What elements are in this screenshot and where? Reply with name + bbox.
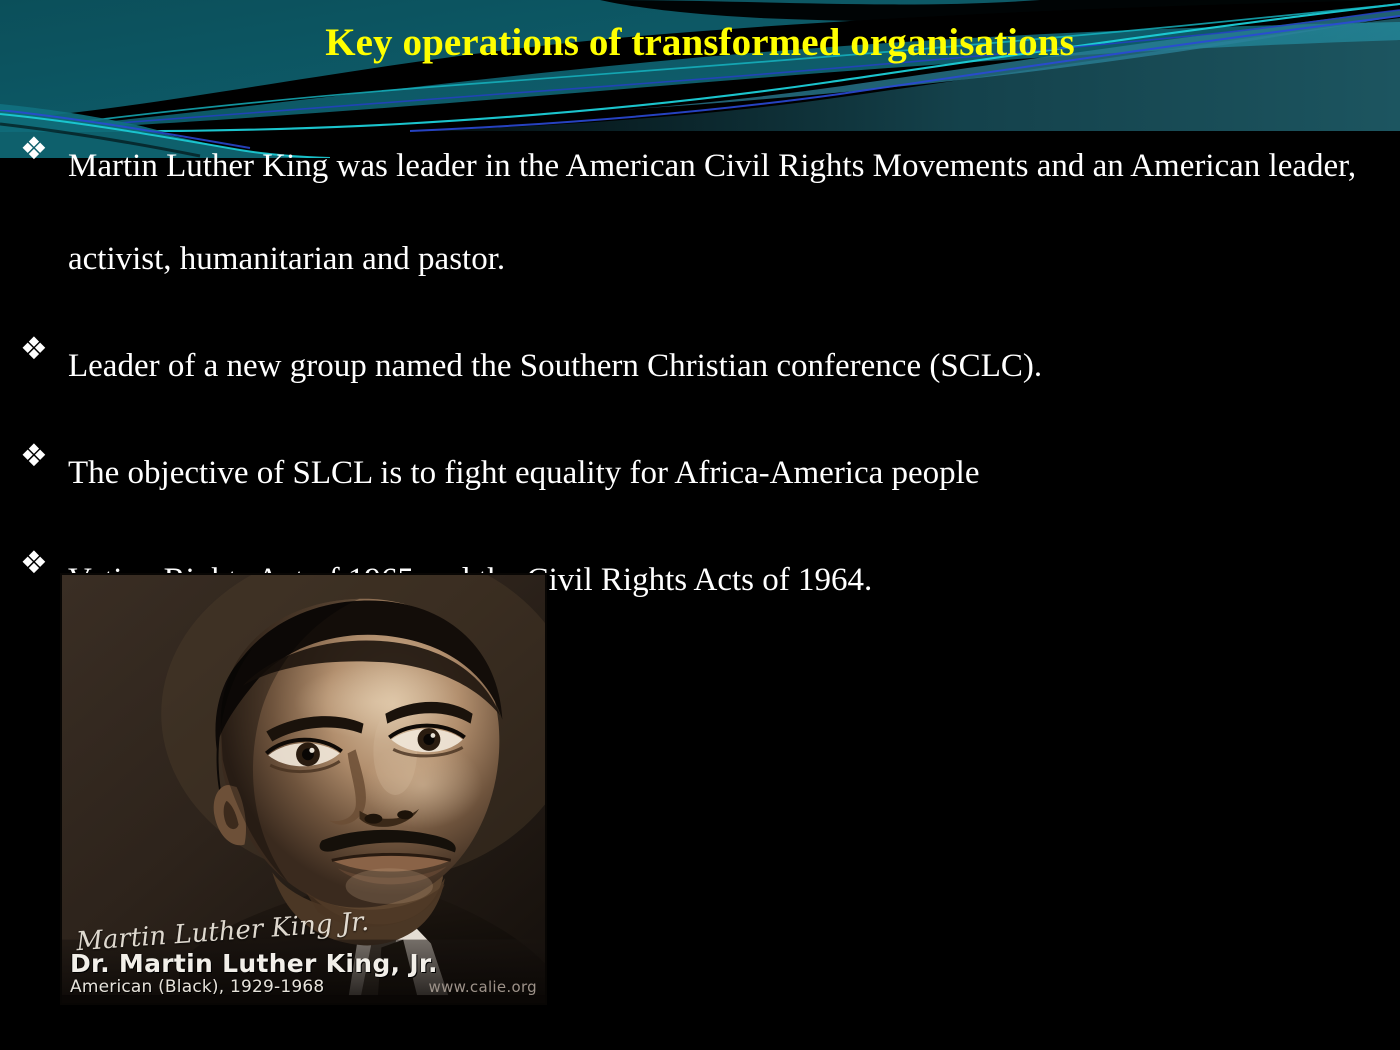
bullet-list: ❖ Martin Luther King was leader in the A… xyxy=(0,120,1400,641)
diamond-bullet-icon: ❖ xyxy=(20,120,54,178)
diamond-bullet-icon: ❖ xyxy=(20,320,54,378)
list-item-label: Leader of a new group named the Southern… xyxy=(68,320,1400,413)
page-title: Key operations of transformed organisati… xyxy=(0,21,1400,65)
diamond-bullet-icon: ❖ xyxy=(20,427,54,485)
list-item-label: The objective of SLCL is to fight equali… xyxy=(68,427,1400,520)
list-item: ❖ Leader of a new group named the Southe… xyxy=(0,320,1400,413)
list-item-label: Martin Luther King was leader in the Ame… xyxy=(68,120,1400,306)
diamond-bullet-icon: ❖ xyxy=(20,534,54,592)
list-item: ❖ Martin Luther King was leader in the A… xyxy=(0,120,1400,306)
caption-source-url: www.calie.org xyxy=(429,978,537,996)
portrait-image: Martin Luther King Jr. Dr. Martin Luther… xyxy=(60,573,547,1005)
slide-canvas: Key operations of transformed organisati… xyxy=(0,0,1400,1050)
list-item: ❖ The objective of SLCL is to fight equa… xyxy=(0,427,1400,520)
portrait-illustration xyxy=(62,575,545,1003)
